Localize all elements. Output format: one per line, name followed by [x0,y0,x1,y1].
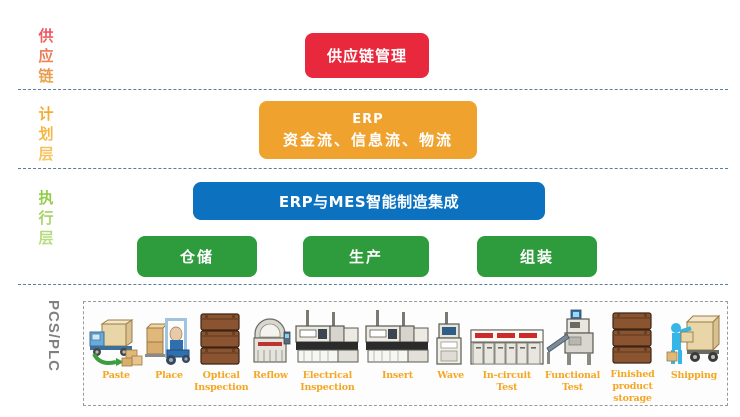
execution-box-warehouse-label: 仓储 [180,246,214,267]
erp-subtitle-label: 资金流、信息流、物流 [283,130,453,151]
station-wave-label: Wave [437,370,464,382]
station-place-label: Place [155,370,183,382]
station-reflow-label: Reflow [253,370,288,382]
station-shipping-label: Shipping [671,370,717,382]
execution-box-assembly[interactable]: 组装 [477,236,597,277]
station-wave[interactable]: Wave [432,306,468,405]
station-place[interactable]: Place [144,306,194,405]
diagram-canvas: 供 应 链 计 划 层 执 行 层 PCS/PLC 供应链管理 ERP 资金流、… [0,0,740,417]
station-electrical-inspection-label: Electrical Inspection [300,370,354,394]
station-functional-test[interactable]: Functional Test [545,306,600,405]
erp-box[interactable]: ERP 资金流、信息流、物流 [259,101,477,159]
execution-box-production[interactable]: 生产 [303,236,429,277]
smt-machine-icon [292,306,362,368]
test-cabinets-icon [469,306,545,368]
station-reflow[interactable]: Reflow [248,306,292,405]
tier-label-supply-chain: 供 应 链 [24,26,70,86]
tier-label-planning: 计 划 层 [24,104,70,164]
station-insert-label: Insert [382,370,413,382]
tier-divider-2 [18,168,728,169]
station-paste-label: Paste [102,370,130,382]
tier-divider-1 [18,89,728,90]
station-paste[interactable]: Paste [88,306,144,405]
stacked-crates-icon [608,306,658,367]
station-electrical-inspection[interactable]: Electrical Inspection [292,306,362,405]
forklift-icon [144,306,194,368]
station-in-circuit-test-label: In-circuit Test [483,370,531,394]
tier-label-execution: 执 行 层 [24,188,70,248]
erp-mes-integration-label: ERP与MES智能制造集成 [279,191,459,212]
station-finished-product-storage[interactable]: Finished product storage [600,306,665,405]
supply-chain-management-label: 供应链管理 [327,45,407,66]
station-insert[interactable]: Insert [362,306,432,405]
smt-machine-icon [362,306,432,368]
tier-label-pcs-plc: PCS/PLC [45,300,62,410]
reflow-oven-icon [248,306,292,368]
production-line-stations: Paste [84,302,727,405]
supply-chain-management-box[interactable]: 供应链管理 [305,33,429,78]
station-finished-product-storage-label: Finished product storage [600,369,665,405]
stacked-crates-icon [196,306,246,368]
station-in-circuit-test[interactable]: In-circuit Test [469,306,545,405]
erp-mes-integration-box[interactable]: ERP与MES智能制造集成 [193,182,545,220]
bench-machine-icon [545,306,599,368]
production-line-panel: Paste [83,301,728,406]
erp-title-label: ERP [352,109,383,130]
execution-box-production-label: 生产 [349,246,383,267]
loading-truck-icon [665,306,723,368]
execution-box-assembly-label: 组装 [520,246,554,267]
delivery-truck-icon [88,306,144,368]
station-optical-inspection-label: Optical Inspection [194,370,248,394]
station-functional-test-label: Functional Test [545,370,600,394]
station-optical-inspection[interactable]: Optical Inspection [194,306,248,405]
station-shipping[interactable]: Shipping [665,306,723,405]
execution-box-warehouse[interactable]: 仓储 [137,236,257,277]
wave-solder-icon [433,306,469,368]
tier-divider-3 [18,284,728,285]
